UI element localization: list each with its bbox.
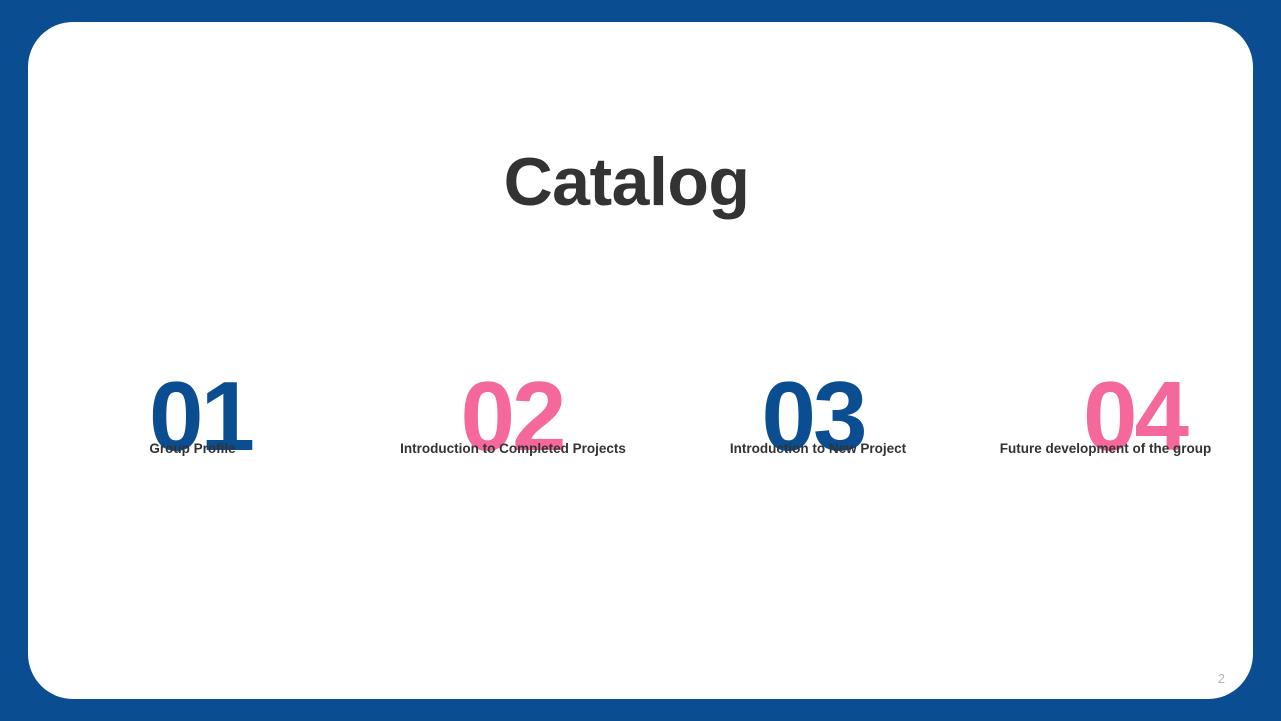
catalog-item-03[interactable]: 03 Introduction to New Project [678, 367, 958, 497]
catalog-item-label: Introduction to New Project [678, 442, 958, 456]
catalog-item-02[interactable]: 02 Introduction to Completed Projects [358, 367, 668, 497]
page-title: Catalog [28, 148, 1225, 216]
catalog-item-04[interactable]: 04 Future development of the group [958, 367, 1253, 497]
catalog-item-label: Group Profile [85, 442, 300, 456]
catalog-item-label: Future development of the group [958, 442, 1253, 456]
catalog-item-list: 01 Group Profile 02 Introduction to Comp… [28, 367, 1253, 497]
catalog-item-label: Introduction to Completed Projects [358, 442, 668, 456]
slide-content-panel: Catalog 01 Group Profile 02 Introduction… [28, 22, 1253, 699]
catalog-item-01[interactable]: 01 Group Profile [85, 367, 300, 497]
presentation-slide: Catalog 01 Group Profile 02 Introduction… [0, 0, 1281, 721]
page-number: 2 [1218, 672, 1225, 685]
